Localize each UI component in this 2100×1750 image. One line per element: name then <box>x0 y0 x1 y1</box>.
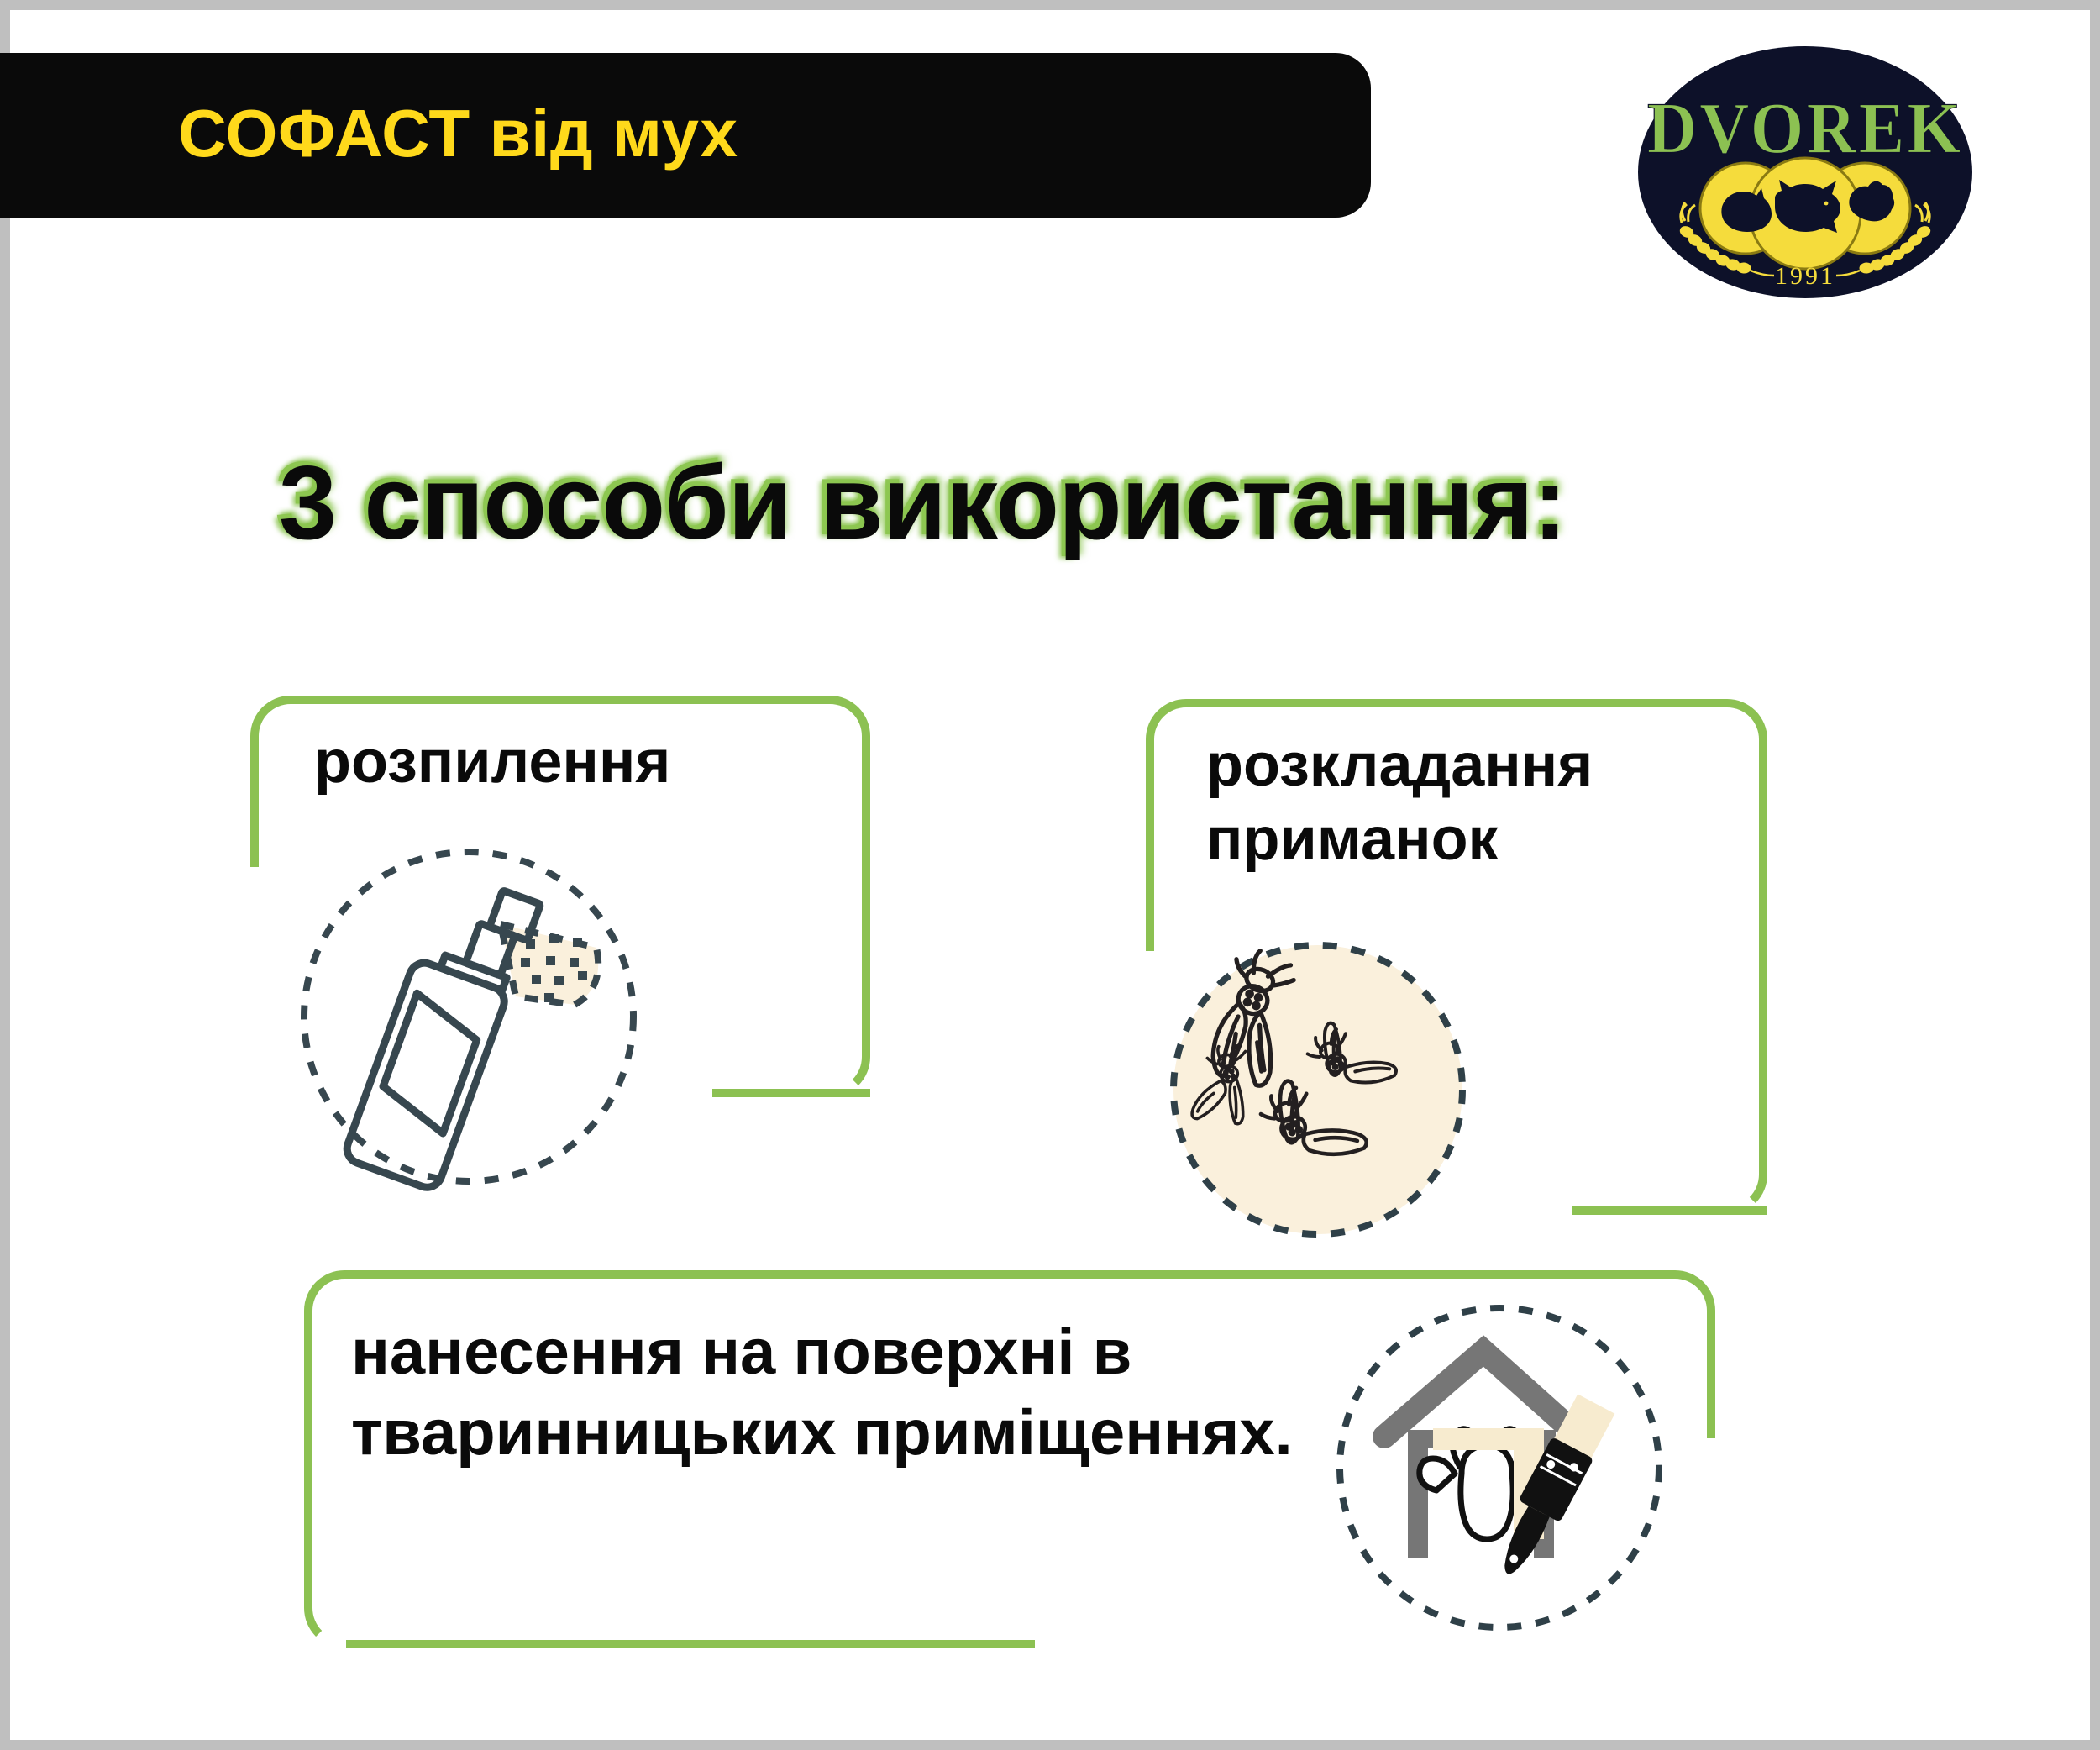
card-label-surface-application: нанесення на поверхні в тваринницьких пр… <box>351 1312 1342 1474</box>
dvorek-logo-icon: DVOREK <box>1638 42 1972 302</box>
page-title: 3 способи використання: <box>279 444 1567 563</box>
banner-title: СОФАСТ від мух <box>178 95 738 172</box>
flies-icon <box>1163 934 1473 1249</box>
card-label-spraying: розпилення <box>314 726 670 800</box>
frame3-bottom-segment <box>346 1640 1035 1648</box>
spray-bottle-icon <box>292 840 645 1197</box>
brand-logo: DVOREK <box>1638 42 1972 302</box>
logo-year: 1991 <box>1775 262 1835 290</box>
slide-canvas: СОФАСТ від мух DVOREK <box>10 10 2090 1740</box>
frame1-bottom-segment <box>712 1089 870 1097</box>
card-label-baits: розкладання приманок <box>1206 729 1744 877</box>
frame2-bottom-segment <box>1572 1206 1767 1215</box>
header-banner: СОФАСТ від мух <box>0 53 1371 218</box>
barn-cow-paintbrush-icon <box>1327 1295 1672 1644</box>
